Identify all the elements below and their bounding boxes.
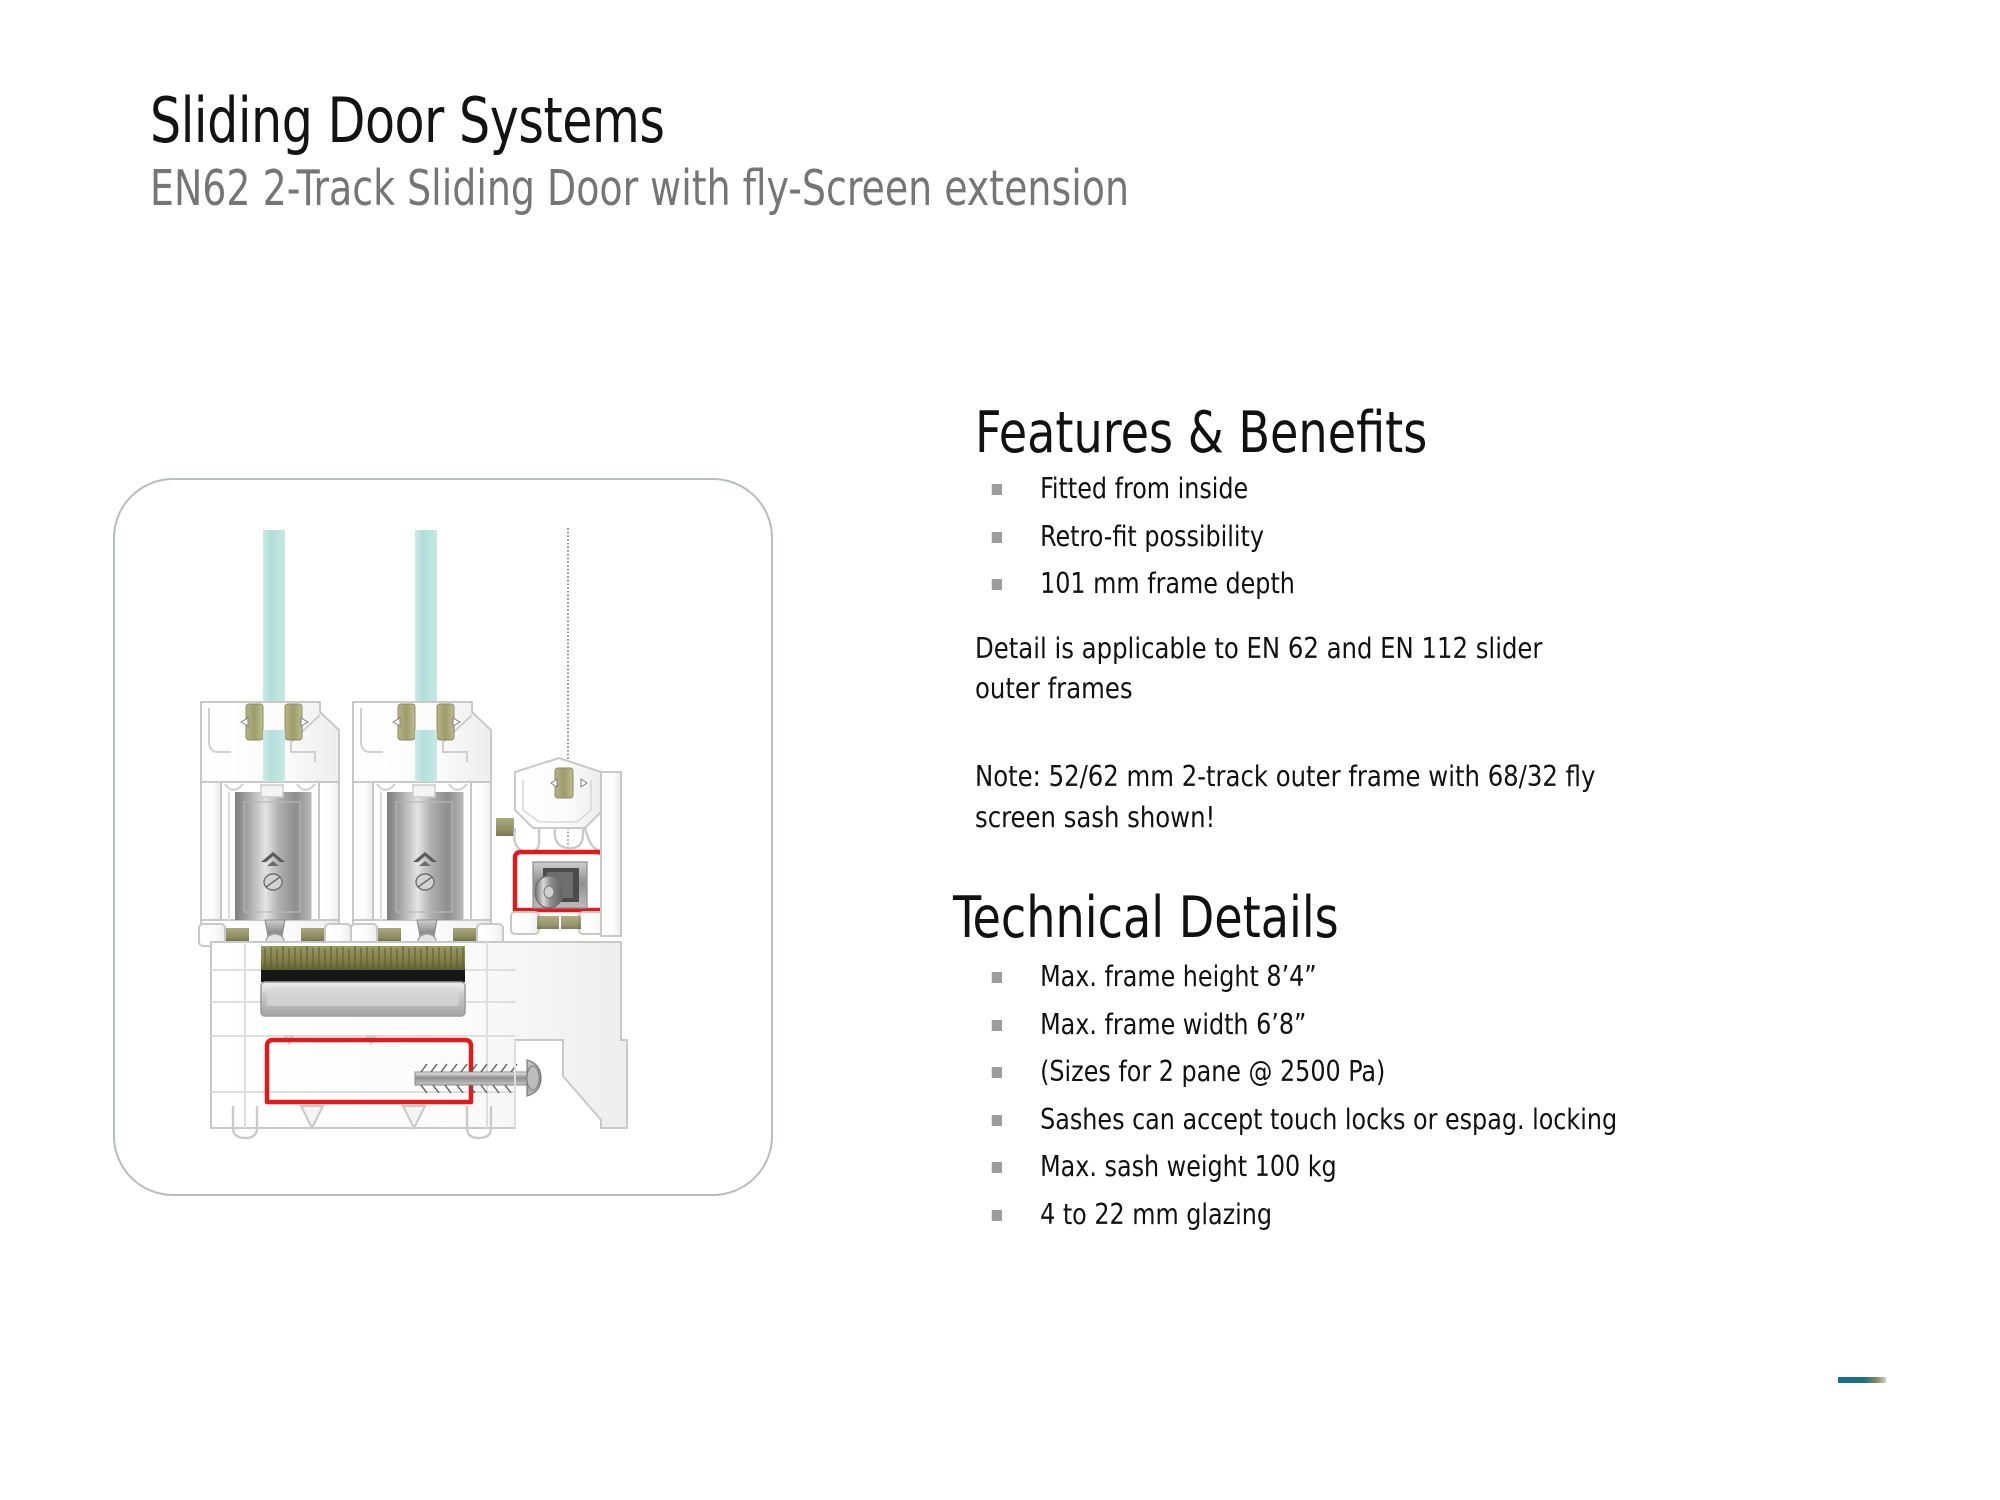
list-item: Max. frame height 8’4” bbox=[975, 963, 1812, 992]
bullet-square-icon bbox=[992, 1210, 1002, 1221]
note-paragraph: Note: 52/62 mm 2-track outer frame with … bbox=[975, 757, 1602, 838]
bullet-square-icon bbox=[992, 972, 1002, 983]
technical-heading: Technical Details bbox=[953, 890, 1783, 947]
list-item: Max. frame width 6’8” bbox=[975, 1011, 1812, 1040]
features-heading: Features & Benefits bbox=[975, 405, 1785, 462]
list-item: Fitted from inside bbox=[975, 475, 1812, 504]
bullet-square-icon bbox=[992, 532, 1002, 543]
steel-reinforcement bbox=[235, 785, 311, 920]
list-item-label: 101 mm frame depth bbox=[1040, 567, 1295, 600]
steel-reinforcement bbox=[387, 785, 463, 920]
page-subtitle: EN62 2-Track Sliding Door with fly-Scree… bbox=[150, 163, 1612, 214]
list-item: Max. sash weight 100 kg bbox=[975, 1153, 1812, 1182]
list-item: Retro-fit possibility bbox=[975, 523, 1812, 552]
title-block: Sliding Door Systems EN62 2-Track Slidin… bbox=[150, 90, 1850, 214]
roller-wheel bbox=[533, 862, 587, 908]
list-item-label: Max. sash weight 100 kg bbox=[1040, 1150, 1337, 1183]
list-item-label: Sashes can accept touch locks or espag. … bbox=[1040, 1103, 1617, 1136]
list-item-label: (Sizes for 2 pane @ 2500 Pa) bbox=[1040, 1055, 1385, 1088]
bullet-square-icon bbox=[992, 1067, 1002, 1078]
features-bullet-list: Fitted from inside Retro-fit possibility… bbox=[975, 475, 1875, 599]
list-item: 101 mm frame depth bbox=[975, 570, 1812, 599]
sliding-door-cross-section-diagram bbox=[115, 480, 771, 1194]
sash-profile-right bbox=[351, 702, 503, 948]
bullet-square-icon bbox=[992, 1115, 1002, 1126]
list-item-label: 4 to 22 mm glazing bbox=[1040, 1198, 1272, 1231]
diagram-panel bbox=[113, 478, 773, 1196]
list-item: 4 to 22 mm glazing bbox=[975, 1201, 1812, 1230]
bullet-square-icon bbox=[992, 1020, 1002, 1031]
bullet-square-icon bbox=[992, 1162, 1002, 1173]
technical-heading-wrap: Technical Details bbox=[953, 890, 1875, 947]
list-item-label: Retro-fit possibility bbox=[1040, 520, 1264, 553]
list-item: (Sizes for 2 pane @ 2500 Pa) bbox=[975, 1058, 1812, 1087]
list-item: Sashes can accept touch locks or espag. … bbox=[975, 1106, 1812, 1135]
bullet-square-icon bbox=[992, 579, 1002, 590]
page-title: Sliding Door Systems bbox=[150, 90, 1646, 152]
list-item-label: Max. frame height 8’4” bbox=[1040, 960, 1317, 993]
running-track bbox=[261, 970, 465, 1016]
content-column: Features & Benefits Fitted from inside R… bbox=[975, 405, 1875, 1248]
sash-profile-left bbox=[199, 702, 351, 948]
list-item-label: Max. frame width 6’8” bbox=[1040, 1008, 1306, 1041]
bullet-square-icon bbox=[992, 484, 1002, 495]
fly-screen-sash bbox=[496, 758, 607, 934]
list-item-label: Fitted from inside bbox=[1040, 472, 1248, 505]
brush-seal bbox=[261, 946, 465, 970]
detail-paragraph: Detail is applicable to EN 62 and EN 112… bbox=[975, 629, 1602, 710]
technical-bullet-list: Max. frame height 8’4” Max. frame width … bbox=[975, 963, 1875, 1229]
corner-accent-mark bbox=[1838, 1377, 1886, 1383]
